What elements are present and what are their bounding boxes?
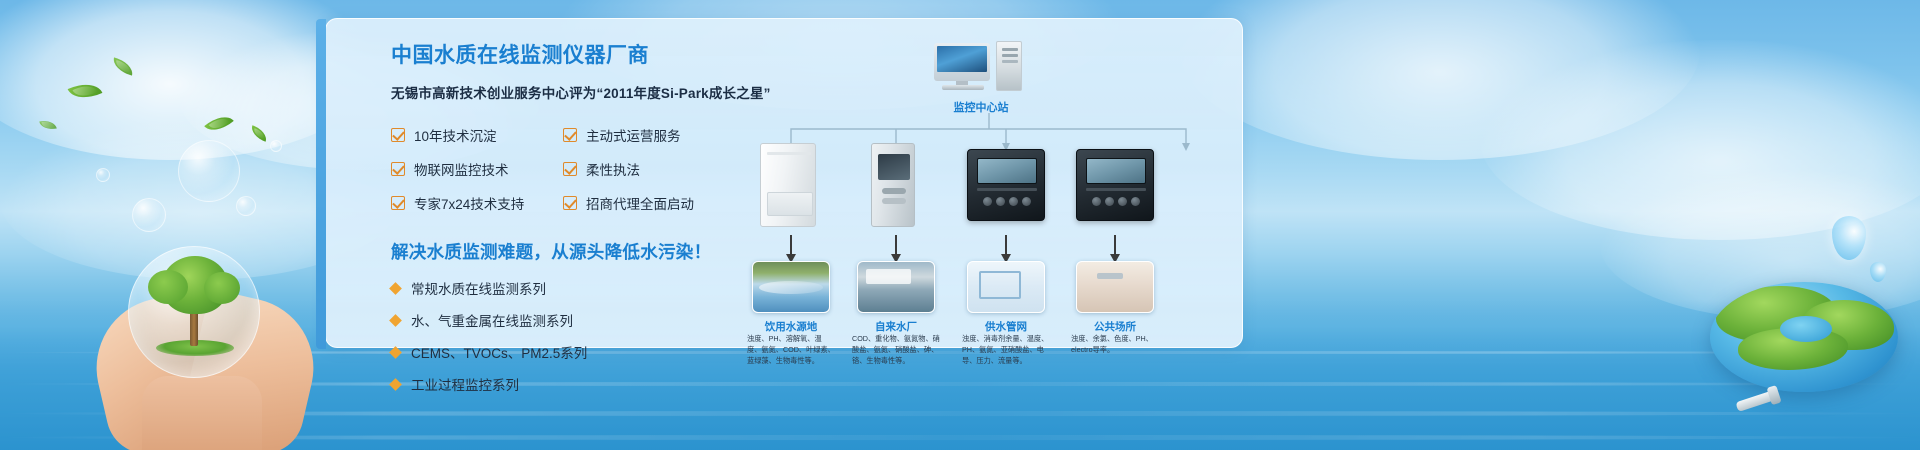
dark-window-cabinet-device-icon bbox=[857, 143, 935, 231]
analyzer-button bbox=[983, 197, 992, 206]
checkbox-checked-icon bbox=[391, 162, 405, 176]
feature-label: 柔性执法 bbox=[586, 159, 640, 179]
leaf-icon bbox=[249, 125, 270, 141]
list-item: CEMS、TVOCs、PM2.5系列 bbox=[391, 342, 781, 362]
checkbox-checked-icon bbox=[391, 128, 405, 142]
cabinet-knob bbox=[882, 188, 906, 194]
monitor-base bbox=[942, 85, 984, 90]
feature-item: 专家7x24技术支持 bbox=[391, 193, 563, 213]
checkbox-checked-icon bbox=[391, 196, 405, 210]
down-arrow-icon bbox=[790, 235, 792, 255]
scene-description: 浊度、消毒剂余量、温度、PH、氨氮、亚硝酸盐、电导、压力、流量等。 bbox=[962, 334, 1050, 366]
feature-checklist: 10年技术沉淀 主动式运营服务 物联网监控技术 柔性执法 专家7x24技术支持 bbox=[391, 125, 781, 213]
analyzer-lcd-screen bbox=[1086, 158, 1146, 184]
feature-item: 招商代理全面启动 bbox=[563, 193, 781, 213]
feature-item: 10年技术沉淀 bbox=[391, 125, 563, 145]
scene-photo bbox=[857, 261, 935, 313]
feature-label: 主动式运营服务 bbox=[586, 125, 681, 145]
bubble-decoration bbox=[178, 140, 240, 202]
leaf-icon bbox=[204, 109, 234, 137]
leaf-icon bbox=[111, 57, 136, 75]
earth-lake bbox=[1780, 316, 1832, 342]
list-item: 常规水质在线监测系列 bbox=[391, 278, 781, 298]
analyzer-button bbox=[1105, 197, 1114, 206]
bubble-decoration bbox=[236, 196, 256, 216]
feature-item: 主动式运营服务 bbox=[563, 125, 781, 145]
hands-holding-tree-illustration bbox=[80, 220, 340, 450]
scene-title: 饮用水源地 bbox=[745, 319, 837, 334]
feature-item: 物联网监控技术 bbox=[391, 159, 563, 179]
analyzer-body bbox=[967, 149, 1045, 221]
feature-label: 招商代理全面启动 bbox=[586, 193, 694, 213]
list-item-label: 水、气重金属在线监测系列 bbox=[411, 310, 573, 330]
analyzer-button bbox=[1009, 197, 1018, 206]
diamond-bullet-icon bbox=[389, 346, 402, 359]
down-arrow-icon bbox=[1005, 235, 1007, 255]
analyzer-body bbox=[1076, 149, 1154, 221]
cloud-decoration bbox=[1180, 0, 1700, 160]
diamond-bullet-icon bbox=[389, 282, 402, 295]
scene-photo bbox=[1076, 261, 1154, 313]
white-cabinet-device-icon bbox=[752, 143, 830, 231]
section-title: 解决水质监测难题，从源头降低水污染！ bbox=[391, 239, 781, 264]
scene-photo bbox=[967, 261, 1045, 313]
analyzer-device-icon bbox=[1076, 143, 1154, 231]
checkbox-checked-icon bbox=[563, 196, 577, 210]
page-subtitle: 无锡市高新技术创业服务中心评为“2011年度Si-Park成长之星” bbox=[391, 82, 781, 102]
scene-title: 供水管网 bbox=[960, 319, 1052, 334]
panel-accent-bar bbox=[316, 19, 326, 349]
cabinet-body bbox=[760, 143, 816, 227]
content-panel: 中国水质在线监测仪器厂商 无锡市高新技术创业服务中心评为“2011年度Si-Pa… bbox=[325, 18, 1243, 348]
analyzer-buttons bbox=[1088, 190, 1144, 212]
wrist bbox=[142, 376, 262, 450]
analyzer-buttons bbox=[979, 190, 1035, 212]
earth-ball bbox=[1710, 282, 1898, 392]
tree-trunk bbox=[190, 310, 198, 346]
scene-description: 浊度、余氯、色度、PH、electro导率。 bbox=[1071, 334, 1159, 356]
monitoring-center-computer-icon bbox=[934, 41, 1030, 93]
analyzer-button bbox=[1092, 197, 1101, 206]
list-item-label: 常规水质在线监测系列 bbox=[411, 278, 546, 298]
scene-title: 公共场所 bbox=[1069, 319, 1161, 334]
monitor-icon bbox=[934, 43, 990, 81]
scene-title: 自来水厂 bbox=[850, 319, 942, 334]
cloud-decoration bbox=[1480, 40, 1920, 240]
tree-crown bbox=[162, 256, 228, 314]
list-item: 水、气重金属在线监测系列 bbox=[391, 310, 781, 330]
product-series-list: 常规水质在线监测系列 水、气重金属在线监测系列 CEMS、TVOCs、PM2.5… bbox=[391, 278, 781, 394]
feature-item: 柔性执法 bbox=[563, 159, 781, 179]
scene-photo bbox=[752, 261, 830, 313]
checkbox-checked-icon bbox=[563, 128, 577, 142]
checkbox-checked-icon bbox=[563, 162, 577, 176]
analyzer-button bbox=[1131, 197, 1140, 206]
diamond-bullet-icon bbox=[389, 378, 402, 391]
feature-label: 专家7x24技术支持 bbox=[414, 193, 524, 213]
feature-label: 物联网监控技术 bbox=[414, 159, 509, 179]
bubble-decoration bbox=[96, 168, 110, 182]
analyzer-button bbox=[1022, 197, 1031, 206]
scene-description: COD、重化物、氨氮物、硝酸盐、氨氮、硝酸盐、砷、铬、生物毒性等。 bbox=[852, 334, 940, 366]
system-diagram: 监控中心站 饮用水源地 浊度、PH、溶解氧、温度、氨氮、COD、叶绿素、 bbox=[756, 33, 1226, 343]
list-item: 工业过程监控系列 bbox=[391, 374, 781, 394]
cabinet-body bbox=[871, 143, 915, 227]
pc-tower-icon bbox=[996, 41, 1022, 91]
list-item-label: CEMS、TVOCs、PM2.5系列 bbox=[411, 342, 587, 362]
monitoring-center-label: 监控中心站 bbox=[896, 99, 1066, 115]
analyzer-lcd-screen bbox=[977, 158, 1037, 184]
down-arrow-icon bbox=[1114, 235, 1116, 255]
scene-description: 浊度、PH、溶解氧、温度、氨氮、COD、叶绿素、蓝绿藻、生物毒性等。 bbox=[747, 334, 835, 366]
leaf-icon bbox=[39, 119, 56, 132]
analyzer-button bbox=[1118, 197, 1127, 206]
analyzer-device-icon bbox=[967, 143, 1045, 231]
cabinet-window bbox=[878, 154, 910, 180]
page-title: 中国水质在线监测仪器厂商 bbox=[391, 43, 781, 68]
down-arrow-icon bbox=[895, 235, 897, 255]
water-droplet-icon bbox=[1832, 216, 1866, 260]
monitor-screen bbox=[937, 46, 987, 72]
water-droplet-icon bbox=[1870, 262, 1886, 282]
analyzer-button bbox=[996, 197, 1005, 206]
list-item-label: 工业过程监控系列 bbox=[411, 374, 519, 394]
diamond-bullet-icon bbox=[389, 314, 402, 327]
earth-globe-illustration bbox=[1710, 282, 1898, 402]
text-column: 中国水质在线监测仪器厂商 无锡市高新技术创业服务中心评为“2011年度Si-Pa… bbox=[391, 43, 781, 406]
water-monitoring-banner: 中国水质在线监测仪器厂商 无锡市高新技术创业服务中心评为“2011年度Si-Pa… bbox=[0, 0, 1920, 450]
leaf-icon bbox=[68, 77, 103, 106]
feature-label: 10年技术沉淀 bbox=[414, 125, 497, 145]
bubble-decoration bbox=[270, 140, 282, 152]
